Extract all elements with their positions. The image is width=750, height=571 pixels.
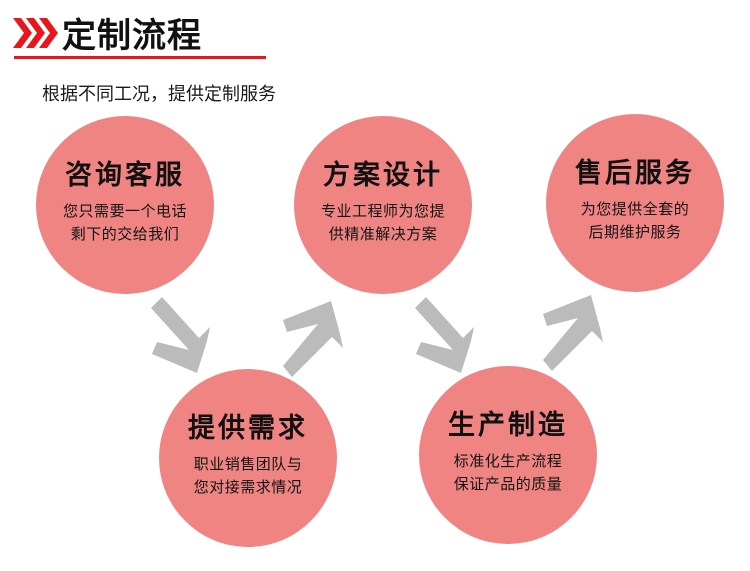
flow-node-consult[interactable]: 咨询客服 您只需要一个电话 剩下的交给我们 [36,116,214,294]
title-underline [14,56,266,59]
flow-node-description: 职业销售团队与 您对接需求情况 [194,453,303,498]
arrow-up-right-icon [542,292,614,379]
arrow-down-right-icon [414,294,486,381]
flow-node-description-line: 保证产品的质量 [454,473,563,496]
page-subtitle: 根据不同工况，提供定制服务 [42,80,276,106]
flow-node-after-sales[interactable]: 售后服务 为您提供全套的 后期维护服务 [546,114,724,292]
page-title: 定制流程 [62,8,202,57]
flow-node-description-line: 标准化生产流程 [454,450,563,473]
flow-node-description: 您只需要一个电话 剩下的交给我们 [63,200,187,245]
flow-node-production[interactable]: 生产制造 标准化生产流程 保证产品的质量 [419,366,597,544]
flow-node-description-line: 专业工程师为您提 [321,200,445,223]
flow-node-description-line: 后期维护服务 [581,221,690,244]
header: 定制流程 根据不同工况，提供定制服务 [0,0,750,115]
arrow-up-right-icon [282,298,354,385]
slide-canvas: 定制流程 根据不同工况，提供定制服务 咨询客服 您只需要一个电话 剩下的交给我们… [0,0,750,571]
flow-node-description-line: 供精准解决方案 [321,223,445,246]
flow-node-title: 生产制造 [448,411,568,441]
triple-chevron-right-icon [12,16,58,50]
flow-node-description-line: 剩下的交给我们 [63,223,187,246]
flow-node-title: 方案设计 [323,161,443,191]
flow-node-title: 咨询客服 [65,161,185,191]
flow-node-description-line: 您对接需求情况 [194,476,303,499]
flow-node-description: 为您提供全套的 后期维护服务 [581,198,690,243]
flow-node-title: 售后服务 [575,159,695,189]
flow-node-description: 标准化生产流程 保证产品的质量 [454,450,563,495]
flow-node-requirement[interactable]: 提供需求 职业销售团队与 您对接需求情况 [159,369,337,547]
flow-node-title: 提供需求 [188,414,308,444]
flow-node-description-line: 职业销售团队与 [194,453,303,476]
flow-node-description-line: 您只需要一个电话 [63,200,187,223]
flow-node-description-line: 为您提供全套的 [581,198,690,221]
arrow-down-right-icon [150,294,222,381]
flow-node-description: 专业工程师为您提 供精准解决方案 [321,200,445,245]
flow-node-design[interactable]: 方案设计 专业工程师为您提 供精准解决方案 [294,116,472,294]
